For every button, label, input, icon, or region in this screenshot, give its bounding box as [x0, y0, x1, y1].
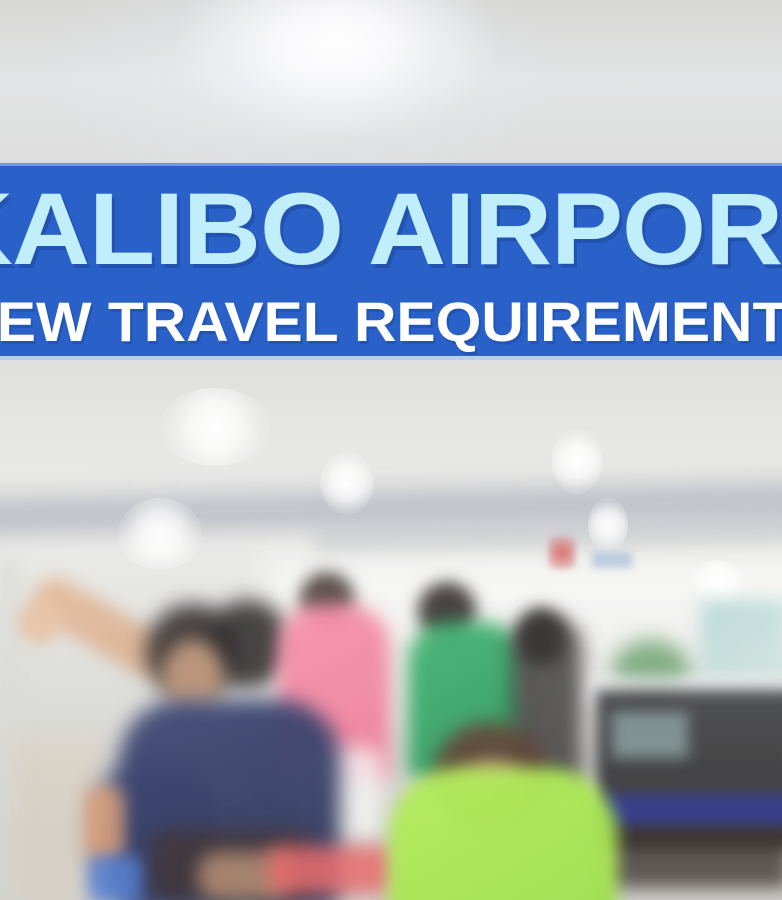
- banner-bottom-hairline: [0, 356, 782, 360]
- lime-shirt-person: [388, 768, 618, 900]
- banner-image-canvas: KALIBO AIRPORT NEW TRAVEL REQUIREMENTS: [0, 0, 782, 900]
- banner-subheadline: NEW TRAVEL REQUIREMENTS: [0, 293, 782, 351]
- ceiling-lamp-d: [552, 428, 602, 494]
- ceiling-lamp-a: [160, 388, 270, 466]
- wall-blue-sign: [592, 552, 632, 568]
- ceiling-lamp-e: [588, 498, 628, 552]
- ceiling-lamp-b: [118, 498, 202, 570]
- headline-container: KALIBO AIRPORT: [0, 177, 782, 281]
- banner-headline: KALIBO AIRPORT: [0, 177, 782, 281]
- subline-container: NEW TRAVEL REQUIREMENTS: [0, 293, 782, 351]
- raised-hand: [18, 600, 62, 644]
- child-figure-left: [84, 786, 124, 862]
- wall-red-sign: [548, 536, 576, 570]
- counter-base: [604, 828, 782, 888]
- ceiling-lamp-f: [690, 560, 746, 604]
- foreground-luggage-pink: [268, 846, 396, 894]
- child-figure-blue: [88, 856, 144, 900]
- airport-terminal-photo: [0, 0, 782, 900]
- title-banner: KALIBO AIRPORT NEW TRAVEL REQUIREMENTS: [0, 163, 782, 360]
- counter-monitor: [612, 712, 688, 758]
- counter-blue-strip: [600, 794, 782, 828]
- ceiling-lamp-c: [320, 452, 374, 514]
- banner-top-hairline: [0, 163, 782, 166]
